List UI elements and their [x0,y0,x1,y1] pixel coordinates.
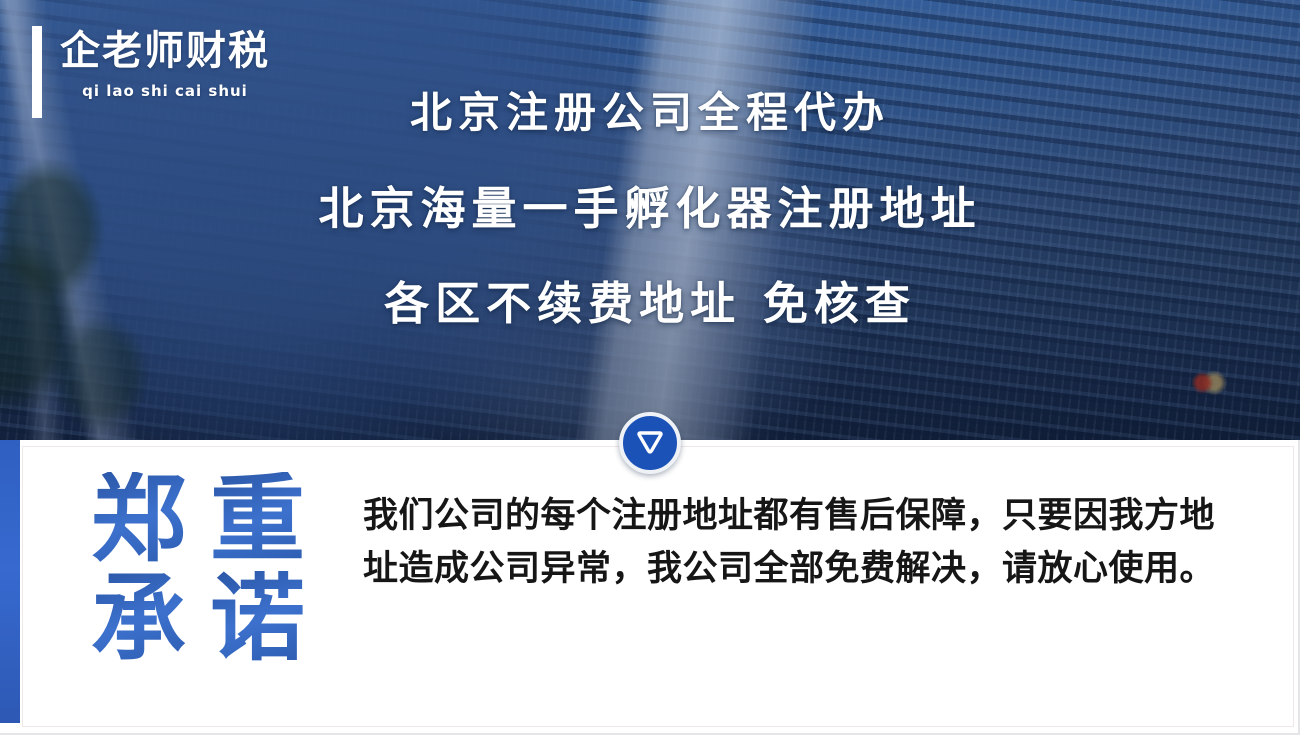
promise-title-char-1: 郑 [83,472,194,569]
triangle-down-icon [636,431,664,455]
hero-headline-2: 北京海量一手孵化器注册地址 [0,186,1300,231]
logo-text-group: 企老师财税 qi lao shi cai shui [60,26,270,100]
promise-title-char-4: 诺 [202,571,313,668]
promise-body-text: 我们公司的每个注册地址都有售后保障，只要因我方地址造成公司异常，我公司全部免费解… [363,489,1243,595]
promise-title-char-2: 重 [202,472,313,569]
promise-panel: 郑 重 承 诺 我们公司的每个注册地址都有售后保障，只要因我方地址造成公司异常，… [0,440,1300,735]
hero-headline-group: 北京注册公司全程代办 北京海量一手孵化器注册地址 各区不续费地址 免核查 [0,92,1300,326]
panel-accent-bar [0,440,20,723]
panel-content-frame: 郑 重 承 诺 我们公司的每个注册地址都有售后保障，只要因我方地址造成公司异常，… [22,446,1294,727]
hero-headline-3: 各区不续费地址 免核查 [0,281,1300,326]
hero-headline-1: 北京注册公司全程代办 [0,92,1300,134]
promise-title-block: 郑 重 承 诺 [83,472,313,668]
scroll-down-button[interactable] [619,412,681,474]
logo-name-cn: 企老师财税 [60,30,270,72]
promise-title-char-3: 承 [83,571,194,668]
hero-banner: 企老师财税 qi lao shi cai shui 北京注册公司全程代办 北京海… [0,0,1300,440]
promo-page: 企老师财税 qi lao shi cai shui 北京注册公司全程代办 北京海… [0,0,1300,735]
